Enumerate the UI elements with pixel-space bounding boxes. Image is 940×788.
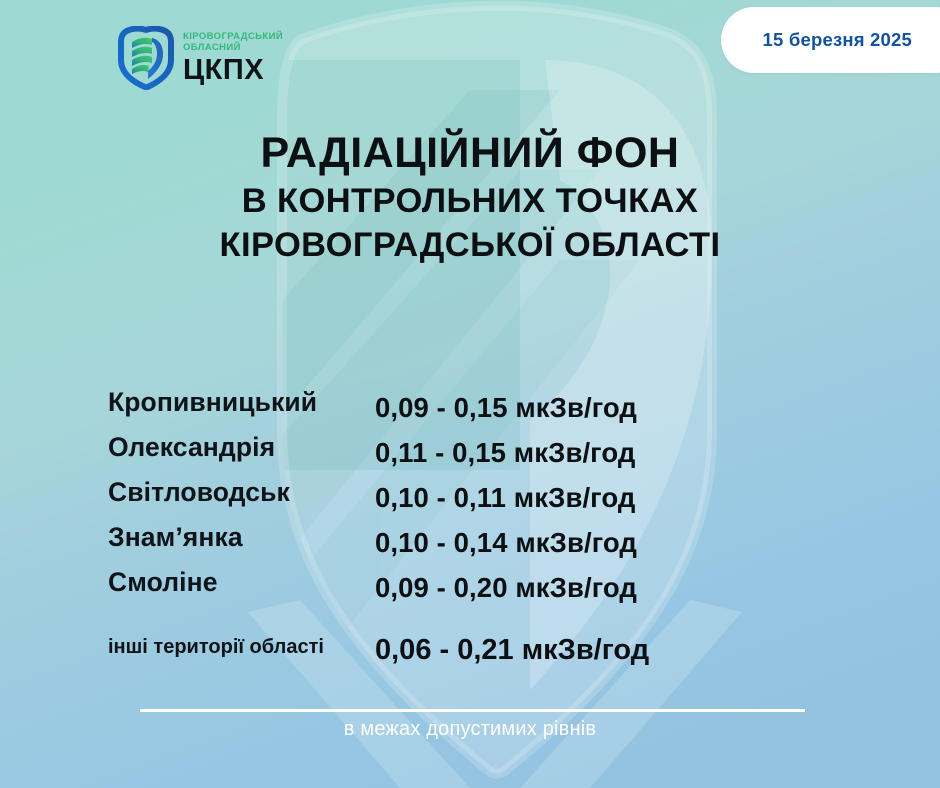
measurement-value: 0,10 - 0,11 мкЗв/год bbox=[375, 482, 635, 514]
measurement-value: 0,09 - 0,20 мкЗв/год bbox=[375, 572, 637, 604]
measurement-row: Кропивницький 0,09 - 0,15 мкЗв/год bbox=[0, 386, 940, 431]
title-line-3: КІРОВОГРАДСЬКОЇ ОБЛАСТІ bbox=[0, 223, 940, 267]
organization-logo: КІРОВОГРАДСЬКИЙ ОБЛАСНИЙ ЦКПХ bbox=[118, 26, 283, 90]
footer-note: в межах допустимих рівнів bbox=[0, 718, 940, 741]
measurement-value: 0,09 - 0,15 мкЗв/год bbox=[375, 392, 637, 424]
measurement-place: Смоліне bbox=[0, 567, 375, 598]
date-badge-label: 15 березня 2025 bbox=[763, 29, 912, 50]
measurement-row: Смоліне 0,09 - 0,20 мкЗв/год bbox=[0, 566, 940, 611]
measurement-place: Знам’янка bbox=[0, 522, 375, 553]
logo-abbreviation: ЦКПХ bbox=[183, 55, 283, 85]
title-line-1: РАДІАЦІЙНИЙ ФОН bbox=[0, 128, 940, 179]
measurement-row: Олександрія 0,11 - 0,15 мкЗв/год bbox=[0, 431, 940, 476]
measurements-list: Кропивницький 0,09 - 0,15 мкЗв/год Олекс… bbox=[0, 386, 940, 661]
shield-leaf-logo-icon bbox=[118, 26, 174, 90]
title-line-2: В КОНТРОЛЬНИХ ТОЧКАХ bbox=[0, 179, 940, 223]
measurement-place: Кропивницький bbox=[0, 387, 375, 418]
measurement-row-other-territories: інші території області 0,06 - 0,21 мкЗв/… bbox=[0, 628, 940, 661]
measurement-place: Світловодськ bbox=[0, 477, 375, 508]
measurement-place: інші території області bbox=[0, 636, 375, 659]
measurement-row: Знам’янка 0,10 - 0,14 мкЗв/год bbox=[0, 521, 940, 566]
date-badge: 15 березня 2025 bbox=[721, 7, 940, 73]
logo-line-2: ОБЛАСНИЙ bbox=[183, 42, 283, 54]
page-title: РАДІАЦІЙНИЙ ФОН В КОНТРОЛЬНИХ ТОЧКАХ КІР… bbox=[0, 128, 940, 267]
measurement-value: 0,11 - 0,15 мкЗв/год bbox=[375, 437, 635, 469]
footer-divider bbox=[140, 709, 805, 712]
measurement-value: 0,06 - 0,21 мкЗв/год bbox=[375, 634, 649, 667]
measurement-row: Світловодськ 0,10 - 0,11 мкЗв/год bbox=[0, 476, 940, 521]
measurement-value: 0,10 - 0,14 мкЗв/год bbox=[375, 527, 637, 559]
radiation-background-poster: КІРОВОГРАДСЬКИЙ ОБЛАСНИЙ ЦКПХ 15 березня… bbox=[0, 0, 940, 788]
measurement-place: Олександрія bbox=[0, 432, 375, 463]
logo-line-1: КІРОВОГРАДСЬКИЙ bbox=[183, 31, 283, 43]
